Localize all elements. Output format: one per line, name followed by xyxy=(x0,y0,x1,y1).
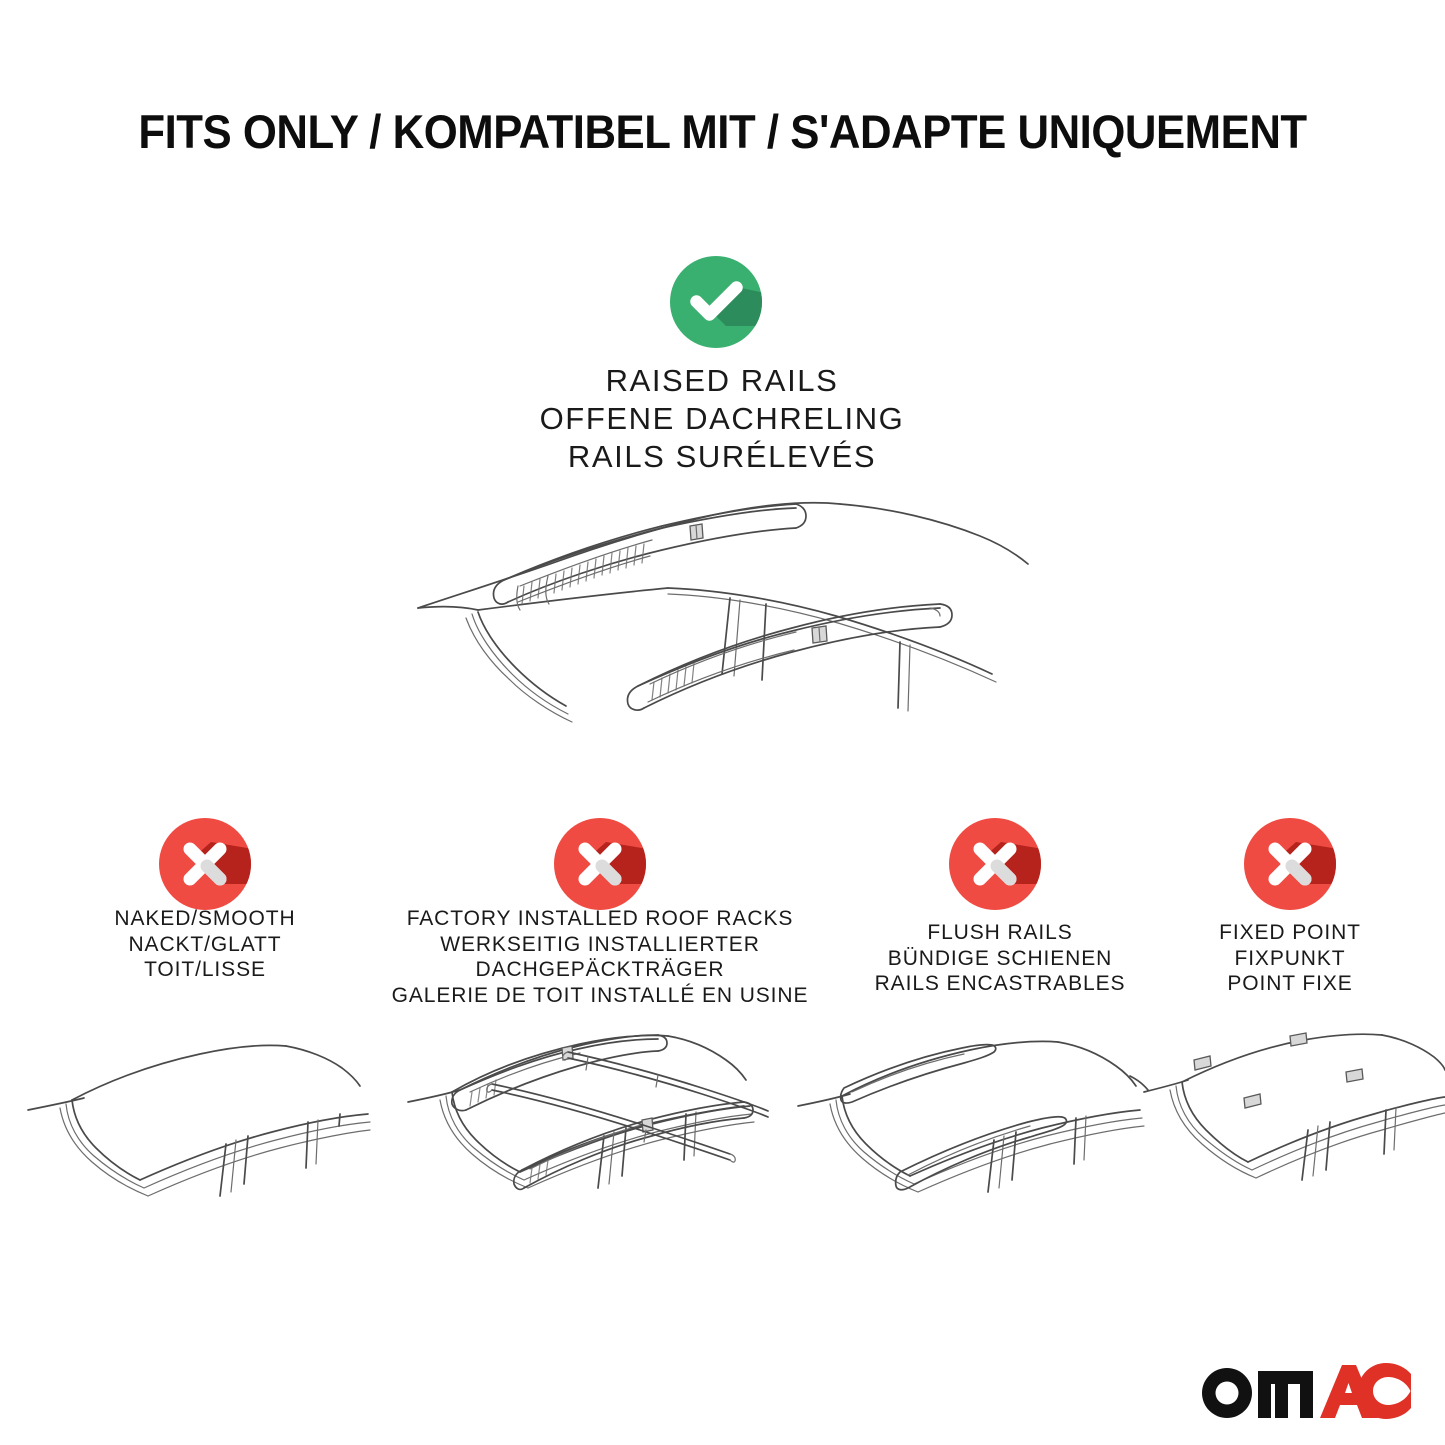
incompatible-label-naked-smooth: NAKED/SMOOTH NACKT/GLATT TOIT/LISSE xyxy=(35,906,375,983)
car-roof-factory-roof-racks-illustration xyxy=(400,1012,770,1247)
cross-circle-icon xyxy=(1244,818,1336,910)
car-roof-raised-rails-illustration xyxy=(400,490,1040,790)
label-line: FIXPUNKT xyxy=(1145,946,1435,972)
label-line: WERKSEITIG INSTALLIERTER xyxy=(370,932,830,958)
incompatible-label-fixed-point: FIXED POINT FIXPUNKT POINT FIXE xyxy=(1145,920,1435,997)
omac-logo xyxy=(1196,1360,1416,1422)
cross-circle-icon xyxy=(949,818,1041,910)
check-circle-icon xyxy=(670,256,762,348)
page-title: FITS ONLY / KOMPATIBEL MIT / S'ADAPTE UN… xyxy=(51,104,1395,159)
label-line: POINT FIXE xyxy=(1145,971,1435,997)
incompatible-label-factory-roof-racks: FACTORY INSTALLED ROOF RACKS WERKSEITIG … xyxy=(370,906,830,1008)
label-line: NAKED/SMOOTH xyxy=(35,906,375,932)
label-line: GALERIE DE TOIT INSTALLÉ EN USINE xyxy=(370,983,830,1009)
incompatible-label-flush-rails: FLUSH RAILS BÜNDIGE SCHIENEN RAILS ENCAS… xyxy=(825,920,1175,997)
label-line: BÜNDIGE SCHIENEN xyxy=(825,946,1175,972)
compatible-label-line-2: OFFENE DACHRELING xyxy=(322,400,1122,438)
car-roof-fixed-point-illustration xyxy=(1140,1022,1445,1247)
compatible-label: RAISED RAILS OFFENE DACHRELING RAILS SUR… xyxy=(322,362,1122,476)
label-line: FLUSH RAILS xyxy=(825,920,1175,946)
car-roof-flush-rails-illustration xyxy=(790,1022,1150,1247)
cross-circle-icon xyxy=(554,818,646,910)
label-line: RAILS ENCASTRABLES xyxy=(825,971,1175,997)
compatible-label-line-1: RAISED RAILS xyxy=(322,362,1122,400)
label-line: FACTORY INSTALLED ROOF RACKS xyxy=(370,906,830,932)
label-line: TOIT/LISSE xyxy=(35,957,375,983)
fitment-compatibility-infographic: FITS ONLY / KOMPATIBEL MIT / S'ADAPTE UN… xyxy=(0,0,1445,1445)
cross-circle-icon xyxy=(159,818,251,910)
logo-letter-m xyxy=(1258,1371,1313,1418)
car-roof-naked-smooth-illustration xyxy=(20,1022,370,1247)
logo-letter-o xyxy=(1202,1368,1252,1418)
label-line: DACHGEPÄCKTRÄGER xyxy=(370,957,830,983)
label-line: FIXED POINT xyxy=(1145,920,1435,946)
label-line: NACKT/GLATT xyxy=(35,932,375,958)
compatible-label-line-3: RAILS SURÉLEVÉS xyxy=(322,438,1122,476)
